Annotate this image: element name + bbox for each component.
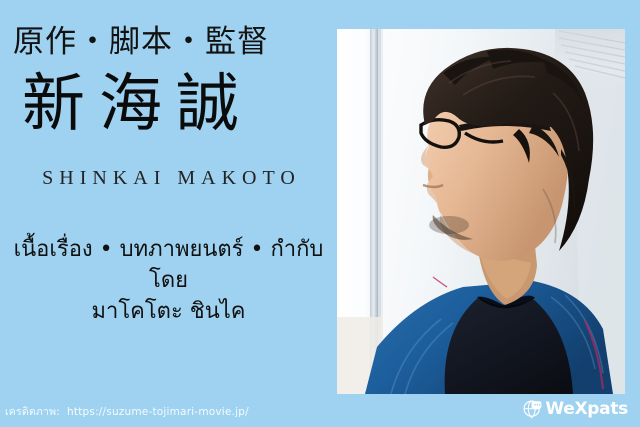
director-name-romaji: SHINKAI MAKOTO xyxy=(0,168,337,188)
thai-caption-block: เนื้อเรื่อง • บทภาพยนตร์ • กำกับ โดย มาโ… xyxy=(0,234,337,327)
photo-credit: เครดิตภาพ: https://suzume-tojimari-movie… xyxy=(5,405,249,419)
thai-caption-line-3: มาโคโตะ ชินไค xyxy=(0,296,337,327)
image-card: 原作・脚本・監督 新海誠 SHINKAI MAKOTO เนื้อเรื่อง … xyxy=(0,0,640,427)
thai-caption-line-1: เนื้อเรื่อง • บทภาพยนตร์ • กำกับ xyxy=(0,234,337,265)
photo-credit-url: https://suzume-tojimari-movie.jp/ xyxy=(67,406,249,418)
wexpats-logo[interactable]: WeXpats xyxy=(523,398,628,420)
globe-speech-bubble-icon xyxy=(523,400,542,419)
photo-credit-label: เครดิตภาพ: xyxy=(5,406,60,418)
wexpats-wordmark: WeXpats xyxy=(545,401,628,418)
portrait-illustration xyxy=(337,29,625,394)
director-portrait-photo xyxy=(337,29,625,394)
director-name-japanese: 新海誠 xyxy=(22,73,332,136)
thai-caption-line-2: โดย xyxy=(0,265,337,296)
role-kicker-japanese: 原作・脚本・監督 xyxy=(13,26,333,57)
text-column: 原作・脚本・監督 新海誠 SHINKAI MAKOTO เนื้อเรื่อง … xyxy=(0,0,337,427)
